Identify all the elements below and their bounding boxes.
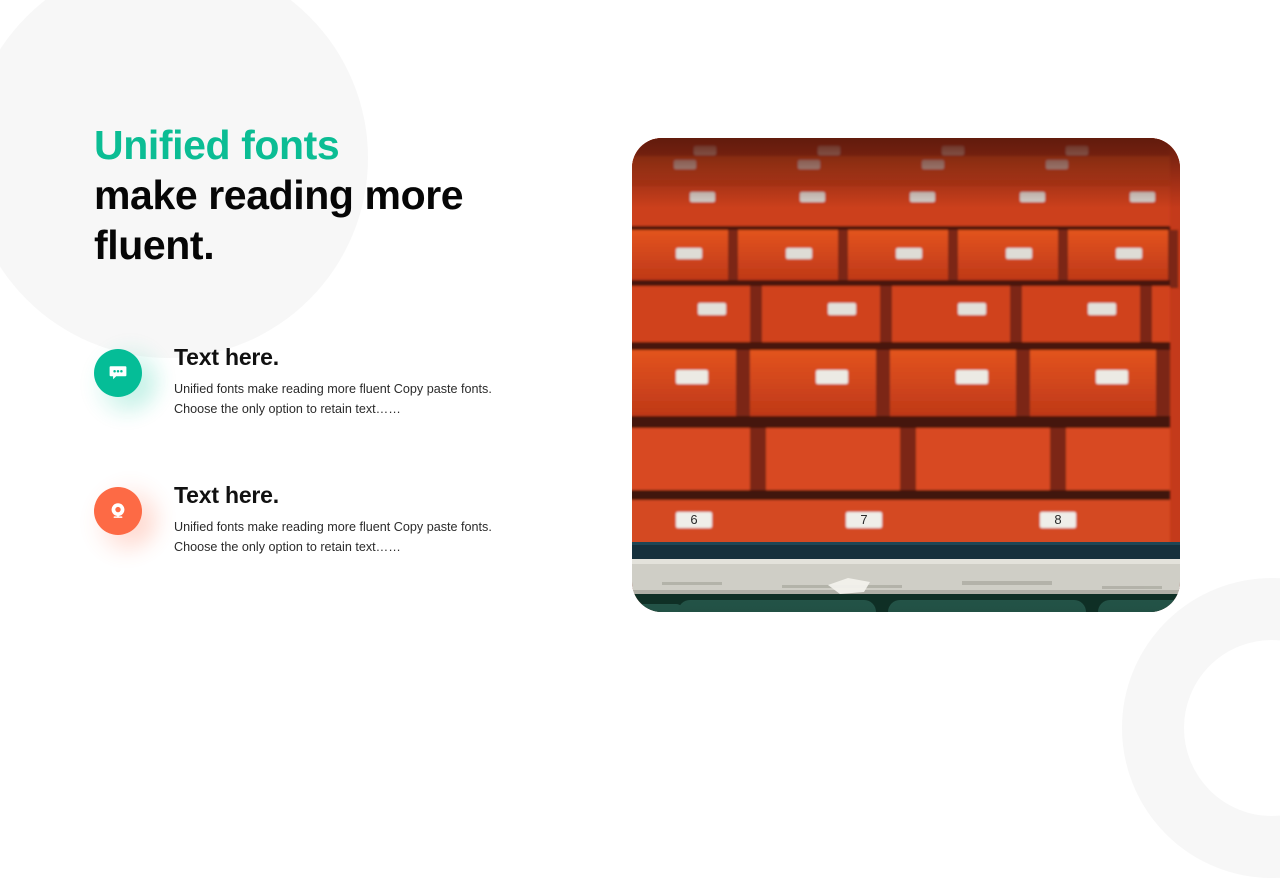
headline-rest-line: make reading more fluent. xyxy=(94,170,564,270)
feature-text-1: Text here. Unified fonts make reading mo… xyxy=(174,343,574,419)
webcam-icon[interactable] xyxy=(94,487,142,535)
feature-text-2: Text here. Unified fonts make reading mo… xyxy=(174,481,574,557)
stadium-seating-illustration: 6 7 8 xyxy=(632,138,1180,612)
stadium-seating-photo: 6 7 8 xyxy=(632,138,1180,612)
feature-title-2: Text here. xyxy=(174,481,574,509)
chat-bubble-icon[interactable] xyxy=(94,349,142,397)
decor-ring-bottom-right xyxy=(1122,578,1280,878)
feature-title-1: Text here. xyxy=(174,343,574,371)
svg-text:6: 6 xyxy=(690,512,697,527)
feature-body-2: Unified fonts make reading more fluent C… xyxy=(174,517,504,557)
feature-body-1: Unified fonts make reading more fluent C… xyxy=(174,379,504,419)
headline-block: Unified fonts make reading more fluent. xyxy=(94,120,564,270)
feature-list: Text here. Unified fonts make reading mo… xyxy=(94,343,574,557)
feature-item-1[interactable]: Text here. Unified fonts make reading mo… xyxy=(94,343,574,419)
feature-item-2[interactable]: Text here. Unified fonts make reading mo… xyxy=(94,481,574,557)
svg-text:8: 8 xyxy=(1054,512,1061,527)
feature-icon-wrap-1 xyxy=(94,349,142,397)
headline-accent-line: Unified fonts xyxy=(94,120,564,170)
page-title: Unified fonts make reading more fluent. xyxy=(94,120,564,270)
svg-text:7: 7 xyxy=(860,512,867,527)
feature-icon-wrap-2 xyxy=(94,487,142,535)
